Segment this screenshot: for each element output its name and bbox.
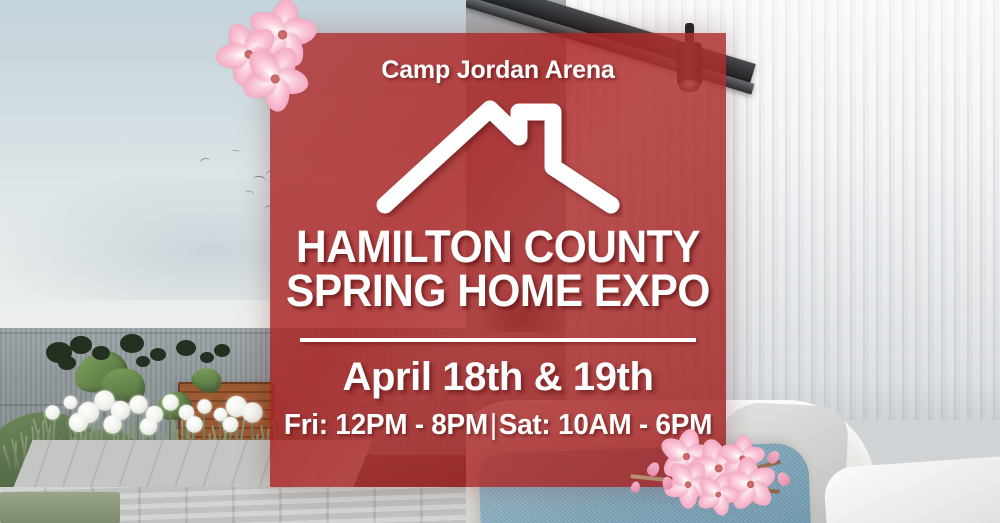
hours-saturday: Sat: 10AM - 6PM bbox=[499, 409, 712, 441]
dark-foliage-leaf bbox=[150, 348, 166, 361]
event-banner: Camp Jordan Arena HAMILTON COUNTY SPRING… bbox=[0, 0, 1000, 523]
allium-flower bbox=[140, 418, 157, 435]
event-dates: April 18th & 19th bbox=[270, 355, 726, 400]
allium-flower bbox=[223, 417, 238, 432]
divider bbox=[300, 338, 696, 342]
event-hours: Fri: 12PM - 8PM|Sat: 10AM - 6PM bbox=[278, 409, 718, 442]
lawn-patch bbox=[0, 492, 120, 523]
page-title: HAMILTON COUNTY SPRING HOME EXPO bbox=[270, 225, 726, 313]
allium-flower bbox=[69, 413, 88, 432]
allium-flower bbox=[45, 405, 60, 420]
title-line-2: SPRING HOME EXPO bbox=[283, 269, 713, 313]
dark-foliage-leaf bbox=[214, 344, 230, 357]
dark-foliage-leaf bbox=[70, 336, 92, 354]
allium-flower bbox=[186, 416, 202, 432]
house-roof-icon bbox=[373, 95, 623, 222]
allium-flower bbox=[197, 399, 212, 414]
allium-flower bbox=[64, 396, 78, 410]
allium-flower bbox=[162, 394, 178, 410]
dark-foliage-leaf bbox=[120, 334, 144, 353]
allium-flower bbox=[103, 415, 121, 433]
allium-flower bbox=[242, 402, 262, 422]
dark-foliage-leaf bbox=[176, 340, 196, 356]
title-line-1: HAMILTON COUNTY bbox=[283, 225, 713, 269]
allium-flower bbox=[129, 395, 147, 413]
banner-content: Camp Jordan Arena HAMILTON COUNTY SPRING… bbox=[270, 33, 726, 487]
hours-friday: Fri: 12PM - 8PM bbox=[284, 409, 488, 441]
bird-icon bbox=[231, 149, 240, 153]
hours-separator: | bbox=[488, 409, 499, 442]
venue-name: Camp Jordan Arena bbox=[270, 56, 726, 85]
